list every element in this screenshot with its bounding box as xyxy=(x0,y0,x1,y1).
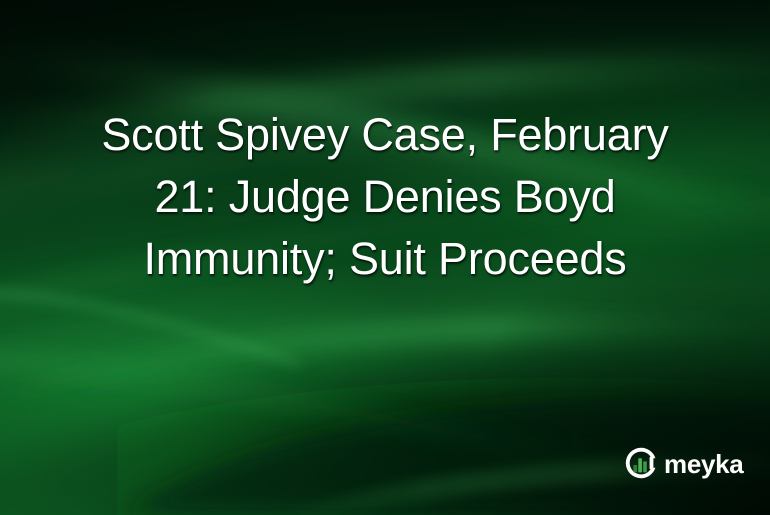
meyka-logo[interactable]: meyka xyxy=(624,446,743,480)
headline-line-3: Immunity; Suit Proceeds xyxy=(42,228,728,290)
social-card: Scott Spivey Case, February 21: Judge De… xyxy=(0,0,770,515)
headline-line-2: 21: Judge Denies Boyd xyxy=(42,166,728,228)
meyka-wordmark: meyka xyxy=(664,451,743,477)
headline-line-1: Scott Spivey Case, February xyxy=(42,104,728,166)
meyka-bar-chart-ring-icon xyxy=(624,446,658,480)
headline: Scott Spivey Case, February 21: Judge De… xyxy=(0,104,770,290)
